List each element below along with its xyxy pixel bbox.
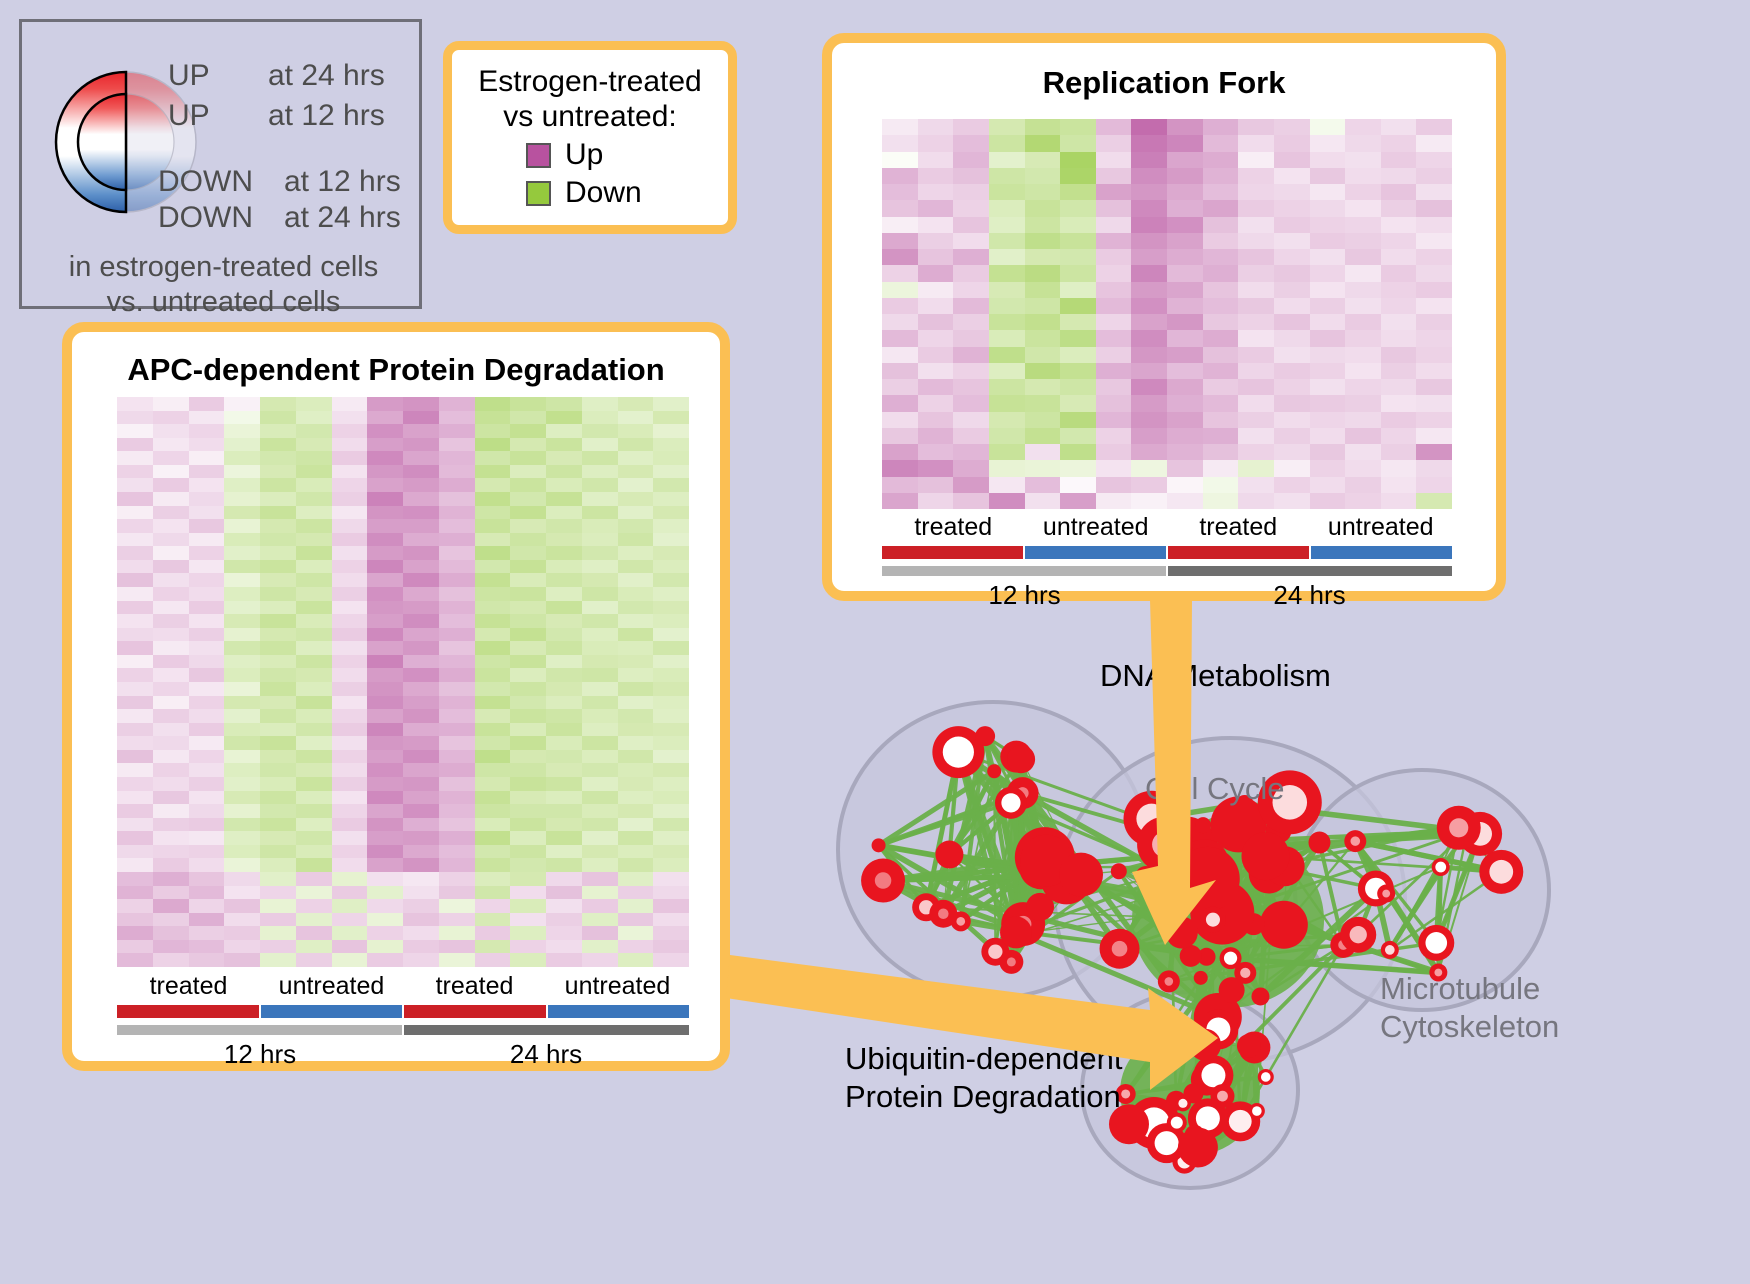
heatmap-cell [1416,347,1452,363]
heatmap-cell [618,913,654,927]
heatmap-cell [296,573,332,587]
heatmap-cell [1345,233,1381,249]
colorwheel-note-line2: vs. untreated cells [22,285,425,320]
heatmap-cell [1096,119,1132,135]
heatmap-cell [153,723,189,737]
heatmap-cell [260,546,296,560]
network-node[interactable] [1000,916,1032,948]
heatmap-cell [653,451,689,465]
heatmap-cell [618,506,654,520]
heatmap-cell [439,465,475,479]
heatmap-cell [260,777,296,791]
heatmap-cell [989,135,1025,151]
heatmap-cell [403,614,439,628]
heatmap-cell [189,601,225,615]
heatmap-cell [332,845,368,859]
heatmap-cell [153,940,189,954]
network-node-core [956,917,965,926]
heatmap-cell [296,465,332,479]
heatmap-cell [1310,135,1346,151]
heatmap-cell [153,953,189,967]
heatmap-cell [1381,298,1417,314]
heatmap-cell [546,587,582,601]
heatmap-cell [1416,477,1452,493]
heatmap-cell [403,411,439,425]
apc-degradation-panel: APC-dependent Protein Degradation treate… [62,322,730,1071]
heatmap-cell [510,858,546,872]
heatmap-cell [332,709,368,723]
heatmap-cell [618,804,654,818]
heatmap-cell [224,696,260,710]
heatmap-cell [1096,363,1132,379]
heatmap-cell [1310,152,1346,168]
heatmap-cell [618,519,654,533]
heatmap-cell [546,791,582,805]
network-node[interactable] [1237,1034,1261,1058]
heatmap-cell [1060,412,1096,428]
heatmap-cell [1381,347,1417,363]
heatmap-cell [1167,184,1203,200]
heatmap-cell [296,628,332,642]
heatmap-cell [582,465,618,479]
heatmap-cell [1274,135,1310,151]
heatmap-cell [653,682,689,696]
heatmap-cell [439,791,475,805]
heatmap-cell [1060,379,1096,395]
heatmap-cell [403,506,439,520]
heatmap-cell [475,791,511,805]
heatmap-cell [989,395,1025,411]
heatmap-cell [117,492,153,506]
heatmap-cell [1416,233,1452,249]
heatmap-cell [1310,395,1346,411]
replication-group-bars [882,546,1452,559]
network-node[interactable] [1194,971,1208,985]
network-node[interactable] [1059,853,1103,897]
heatmap-cell [439,940,475,954]
heatmap-cell [1203,460,1239,476]
heatmap-cell [296,438,332,452]
heatmap-cell [582,845,618,859]
heatmap-cell [189,478,225,492]
heatmap-cell [510,506,546,520]
heatmap-cell [117,736,153,750]
heatmap-cell [1060,347,1096,363]
heatmap-cell [403,913,439,927]
heatmap-cell [953,444,989,460]
heatmap-cell [189,831,225,845]
heatmap-cell [260,533,296,547]
network-node[interactable] [935,841,963,869]
heatmap-cell [1025,412,1061,428]
heatmap-cell [439,519,475,533]
heatmap-cell [475,899,511,913]
heatmap-cell [296,682,332,696]
network-node[interactable] [1166,917,1198,949]
heatmap-cell [475,655,511,669]
network-node[interactable] [872,838,886,852]
heatmap-cell [546,668,582,682]
heatmap-cell [1274,460,1310,476]
heatmap-cell [475,560,511,574]
heatmap-cell [1167,330,1203,346]
heatmap-cell [189,573,225,587]
network-node[interactable] [1219,977,1245,1003]
heatmap-cell [260,750,296,764]
network-node-core [1217,1091,1228,1102]
heatmap-cell [510,424,546,438]
heatmap-cell [546,411,582,425]
heatmap-cell [1381,477,1417,493]
heatmap-cell [510,831,546,845]
heatmap-cell [367,831,403,845]
network-node[interactable] [1111,863,1127,879]
heatmap-cell [1381,314,1417,330]
replication-fork-axis: treateduntreatedtreateduntreated 12 hrs2… [882,513,1452,611]
estrogen-title-line2: vs untreated: [452,99,728,134]
heatmap-cell [403,831,439,845]
legend-at-24-label-a: at 24 hrs [268,59,385,93]
network-node[interactable] [1308,832,1330,854]
heatmap-cell [882,168,918,184]
heatmap-cell [403,886,439,900]
heatmap-cell [224,858,260,872]
heatmap-cell [296,872,332,886]
heatmap-cell [989,460,1025,476]
heatmap-cell [260,858,296,872]
network-node[interactable] [1178,1128,1218,1168]
heatmap-cell [918,152,954,168]
heatmap-cell [1096,152,1132,168]
heatmap-cell [546,831,582,845]
heatmap-cell [1060,477,1096,493]
heatmap-cell [1310,493,1346,509]
heatmap-cell [510,763,546,777]
network-node-core [1165,977,1174,986]
heatmap-cell [510,533,546,547]
heatmap-cell [1131,314,1167,330]
heatmap-cell [1345,135,1381,151]
network-node[interactable] [1260,901,1308,949]
heatmap-cell [882,249,918,265]
heatmap-cell [1131,152,1167,168]
network-node-core [1229,1110,1252,1133]
heatmap-cell [153,668,189,682]
heatmap-cell [546,641,582,655]
network-node-core [1382,890,1390,898]
heatmap-cell [367,478,403,492]
microtubule-label-line2: Cytoskeleton [1380,1008,1559,1046]
heatmap-cell [1060,217,1096,233]
heatmap-cell [367,899,403,913]
replication-fork-title: Replication Fork [832,43,1496,101]
heatmap-cell [510,804,546,818]
heatmap-cell [1310,119,1346,135]
heatmap-cell [332,831,368,845]
heatmap-cell [224,926,260,940]
heatmap-cell [1274,184,1310,200]
heatmap-cell [918,330,954,346]
heatmap-cell [953,477,989,493]
heatmap-cell [1167,135,1203,151]
heatmap-cell [1025,168,1061,184]
heatmap-cell [367,804,403,818]
heatmap-cell [1416,184,1452,200]
heatmap-cell [582,709,618,723]
heatmap-cell [153,926,189,940]
heatmap-cell [1060,298,1096,314]
heatmap-cell [1416,395,1452,411]
network-node[interactable] [1007,745,1035,773]
heatmap-cell [510,519,546,533]
heatmap-cell [582,424,618,438]
heatmap-cell [1416,379,1452,395]
heatmap-cell [296,791,332,805]
heatmap-cell [582,614,618,628]
heatmap-cell [403,601,439,615]
heatmap-cell [546,750,582,764]
heatmap-cell [189,628,225,642]
heatmap-cell [296,940,332,954]
heatmap-cell [1310,298,1346,314]
heatmap-cell [1310,363,1346,379]
heatmap-cell [117,465,153,479]
heatmap-cell [1167,493,1203,509]
heatmap-cell [439,587,475,601]
network-node[interactable] [1195,817,1211,833]
heatmap-cell [224,763,260,777]
heatmap-cell [1203,477,1239,493]
network-node-core [1261,1072,1271,1082]
heatmap-cell [189,682,225,696]
heatmap-cell [332,533,368,547]
heatmap-cell [153,438,189,452]
heatmap-cell [1025,347,1061,363]
heatmap-cell [618,587,654,601]
group-color-bar [404,1005,548,1018]
heatmap-cell [546,818,582,832]
network-node[interactable] [1026,893,1054,921]
heatmap-cell [189,397,225,411]
heatmap-cell [1060,135,1096,151]
heatmap-cell [224,587,260,601]
heatmap-cell [1025,282,1061,298]
heatmap-cell [296,506,332,520]
heatmap-cell [475,750,511,764]
group-color-bar [1025,546,1168,559]
heatmap-cell [296,546,332,560]
heatmap-cell [153,682,189,696]
heatmap-cell [117,845,153,859]
network-node-core [1121,1089,1130,1098]
legend-down-12-label: DOWN [158,165,253,199]
heatmap-cell [1345,363,1381,379]
heatmap-cell [989,363,1025,379]
heatmap-cell [1060,493,1096,509]
heatmap-cell [332,628,368,642]
heatmap-cell [546,655,582,669]
heatmap-cell [1416,412,1452,428]
heatmap-cell [546,601,582,615]
time-label: 12 hrs [117,1039,403,1070]
heatmap-cell [403,709,439,723]
heatmap-cell [1025,444,1061,460]
heatmap-cell [189,696,225,710]
heatmap-cell [403,858,439,872]
network-node-core [938,908,949,919]
heatmap-cell [953,282,989,298]
network-node[interactable] [1176,847,1240,911]
heatmap-cell [546,519,582,533]
heatmap-cell [332,668,368,682]
heatmap-cell [153,831,189,845]
heatmap-cell [1416,200,1452,216]
heatmap-cell [332,465,368,479]
heatmap-cell [296,397,332,411]
heatmap-cell [1060,168,1096,184]
network-node-core [1385,945,1395,955]
heatmap-cell [296,763,332,777]
heatmap-cell [367,723,403,737]
heatmap-cell [1096,184,1132,200]
heatmap-cell [618,533,654,547]
heatmap-cell [403,818,439,832]
heatmap-cell [618,940,654,954]
network-node[interactable] [1183,1083,1203,1103]
heatmap-cell [260,655,296,669]
heatmap-cell [918,493,954,509]
network-node[interactable] [1251,987,1269,1005]
up-color-swatch [526,143,551,168]
heatmap-cell [1096,428,1132,444]
heatmap-cell [260,614,296,628]
heatmap-cell [260,723,296,737]
heatmap-cell [260,791,296,805]
heatmap-cell [403,791,439,805]
heatmap-cell [546,953,582,967]
heatmap-cell [1238,282,1274,298]
legend-up-label: Up [565,138,603,172]
heatmap-cell [510,791,546,805]
heatmap-cell [224,655,260,669]
heatmap-cell [189,614,225,628]
heatmap-cell [1416,119,1452,135]
heatmap-cell [439,804,475,818]
heatmap-cell [475,492,511,506]
heatmap-cell [439,451,475,465]
heatmap-cell [332,791,368,805]
heatmap-cell [618,655,654,669]
heatmap-cell [918,233,954,249]
heatmap-cell [332,899,368,913]
heatmap-cell [582,763,618,777]
heatmap-cell [296,601,332,615]
heatmap-cell [224,709,260,723]
heatmap-cell [403,777,439,791]
heatmap-cell [403,940,439,954]
heatmap-cell [332,506,368,520]
heatmap-cell [367,397,403,411]
heatmap-cell [332,682,368,696]
heatmap-cell [582,655,618,669]
heatmap-cell [510,546,546,560]
heatmap-cell [1310,265,1346,281]
heatmap-cell [989,428,1025,444]
heatmap-cell [882,477,918,493]
heatmap-cell [1345,428,1381,444]
heatmap-cell [367,913,403,927]
heatmap-cell [439,628,475,642]
heatmap-cell [918,314,954,330]
heatmap-cell [260,424,296,438]
heatmap-cell [260,451,296,465]
heatmap-cell [1310,460,1346,476]
network-node-core [1206,913,1220,927]
heatmap-cell [439,411,475,425]
heatmap-cell [1310,184,1346,200]
heatmap-cell [1310,428,1346,444]
network-node[interactable] [987,764,1001,778]
group-label: treated [882,513,1025,542]
heatmap-cell [332,736,368,750]
heatmap-cell [582,736,618,750]
group-label: untreated [260,972,403,1001]
heatmap-cell [117,926,153,940]
heatmap-cell [1381,379,1417,395]
heatmap-cell [582,750,618,764]
heatmap-cell [582,438,618,452]
heatmap-cell [653,560,689,574]
group-label: untreated [1310,513,1453,542]
heatmap-cell [546,736,582,750]
heatmap-cell [260,438,296,452]
heatmap-cell [1381,460,1417,476]
heatmap-cell [260,492,296,506]
heatmap-cell [224,492,260,506]
heatmap-cell [582,953,618,967]
heatmap-cell [332,953,368,967]
heatmap-cell [546,763,582,777]
heatmap-cell [1203,119,1239,135]
heatmap-cell [882,200,918,216]
heatmap-cell [1381,217,1417,233]
heatmap-cell [367,641,403,655]
network-node[interactable] [975,726,995,746]
heatmap-cell [1381,200,1417,216]
heatmap-cell [224,872,260,886]
heatmap-cell [1345,298,1381,314]
heatmap-cell [153,913,189,927]
network-node[interactable] [1242,832,1290,880]
heatmap-cell [224,533,260,547]
heatmap-cell [618,641,654,655]
heatmap-cell [439,682,475,696]
heatmap-cell [882,493,918,509]
heatmap-cell [1096,233,1132,249]
heatmap-cell [510,492,546,506]
heatmap-cell [918,347,954,363]
replication-time-bars [882,566,1452,576]
network-node[interactable] [1189,1029,1221,1061]
heatmap-cell [510,818,546,832]
heatmap-cell [367,465,403,479]
heatmap-cell [582,696,618,710]
heatmap-cell [918,135,954,151]
heatmap-cell [582,411,618,425]
heatmap-cell [1416,152,1452,168]
heatmap-cell [1131,428,1167,444]
heatmap-cell [989,282,1025,298]
